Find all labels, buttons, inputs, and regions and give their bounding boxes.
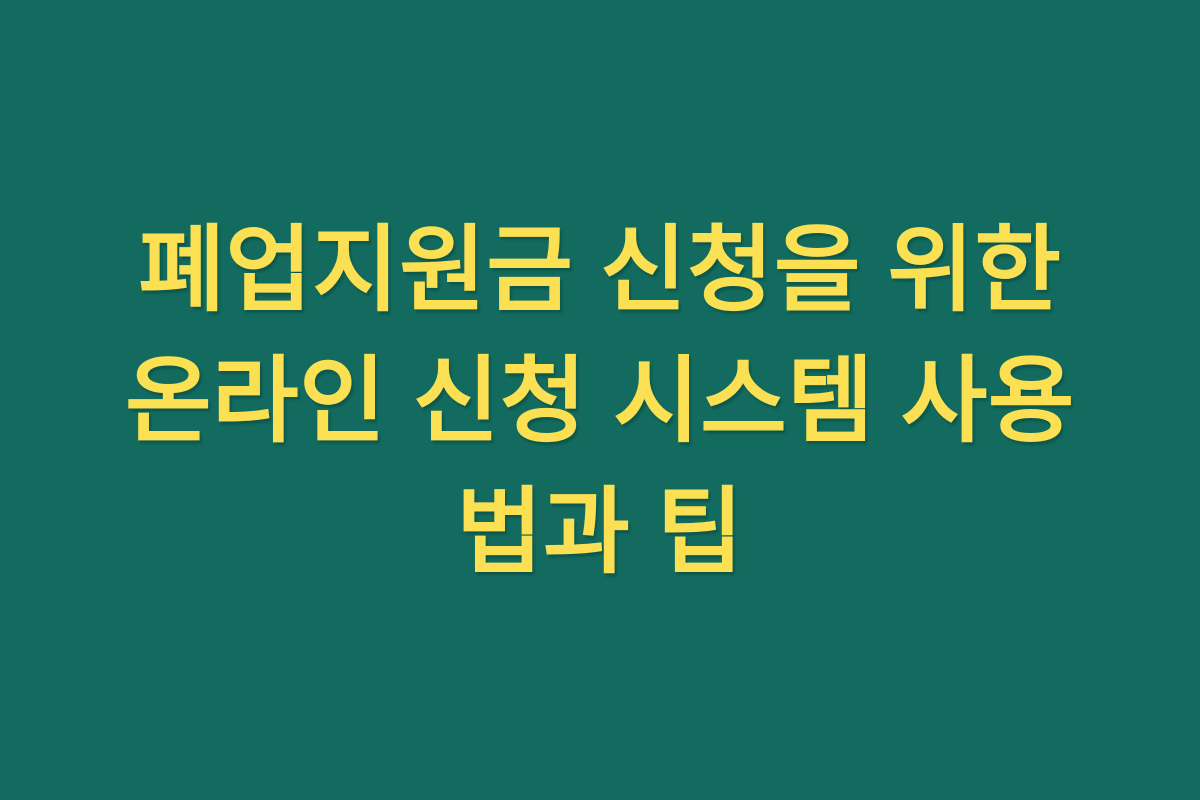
headline-line-2: 온라인 신청 시스템 사용 xyxy=(50,335,1150,466)
headline-line-3: 법과 팁 xyxy=(50,466,1150,597)
page-title: 폐업지원금 신청을 위한 온라인 신청 시스템 사용 법과 팁 xyxy=(50,204,1150,597)
headline-line-1: 폐업지원금 신청을 위한 xyxy=(50,204,1150,335)
banner-canvas: 폐업지원금 신청을 위한 온라인 신청 시스템 사용 법과 팁 xyxy=(0,0,1200,800)
